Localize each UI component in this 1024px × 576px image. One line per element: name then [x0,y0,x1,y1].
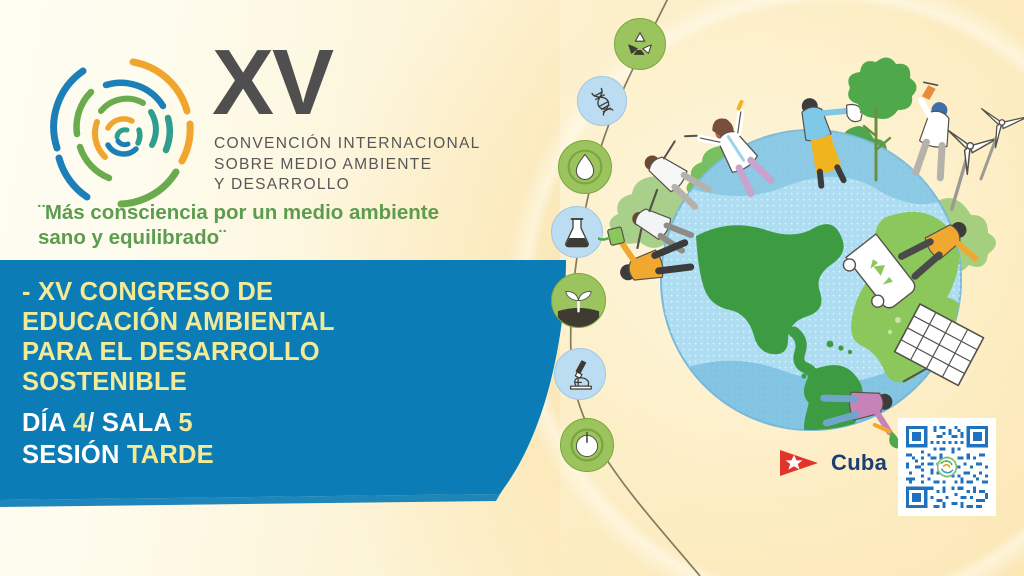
qr-code-graphic [903,423,991,511]
congress-banner: - XV CONGRESO DE EDUCACIÓN AMBIENTAL PAR… [0,260,600,510]
flask-icon [562,216,592,248]
globe-illustration [598,48,1024,468]
session-line: SESIÓN TARDE [22,440,492,470]
convention-subtitle: CONVENCIÓN INTERNACIONAL SOBRE MEDIO AMB… [214,134,481,196]
poster-tagline: ¨Más consciencia por un medio ambiente s… [38,200,538,250]
microscope-icon [565,358,595,390]
globe-sphere [661,130,966,456]
day-label: DÍA [22,409,73,437]
cuba-flag-icon [778,448,824,478]
person-with-flask [905,82,959,178]
day-room-line: DÍA 4/ SALA 5 [22,408,492,438]
session-label: SESIÓN [22,441,127,469]
room-value: 5 [178,409,192,437]
qr-code[interactable] [898,418,996,516]
day-value: 4 [73,409,87,437]
convention-logo [35,48,215,213]
session-value: TARDE [127,441,214,469]
edition-number: XV [212,42,332,124]
poster-root: XV CONVENCIÓN INTERNACIONAL SOBRE MEDIO … [0,0,1024,576]
room-separator: / SALA [87,409,178,437]
congress-title: - XV CONGRESO DE EDUCACIÓN AMBIENTAL PAR… [22,278,492,398]
flask-icon-chip [551,206,603,258]
cuba-label: Cuba [831,450,887,476]
banner-text-block: - XV CONGRESO DE EDUCACIÓN AMBIENTAL PAR… [22,278,492,470]
cuba-badge: Cuba [778,448,887,478]
